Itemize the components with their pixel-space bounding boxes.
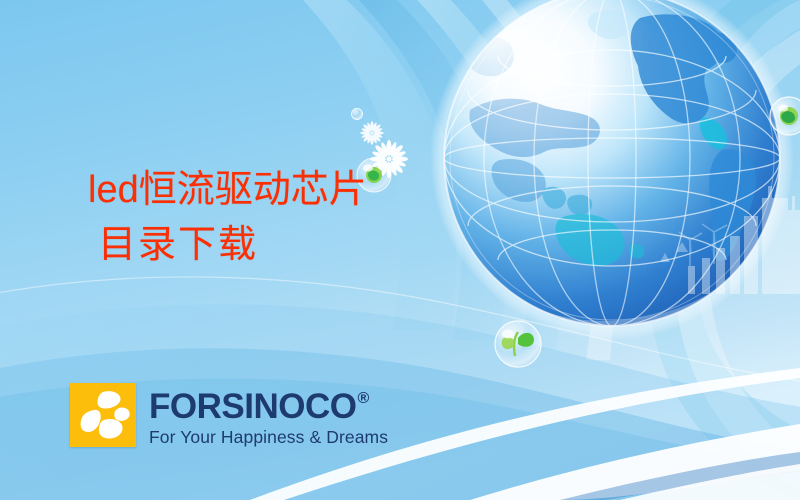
registered-trademark-icon: ® — [357, 391, 368, 407]
headline-text: led恒流驱动芯片 目录下载 — [88, 163, 367, 273]
bubble-small-plain — [352, 109, 363, 120]
logo-wordmark-text: FORSINOCO — [149, 389, 356, 424]
bubble-green-sprout — [495, 321, 541, 367]
logo-tagline: For Your Happiness & Dreams — [149, 429, 388, 447]
promo-banner: led恒流驱动芯片 目录下载 FORSINOCO — [0, 0, 800, 500]
headline-line-2: 目录下载 — [88, 218, 367, 273]
brand-logo: FORSINOCO ® For Your Happiness & Dreams — [70, 383, 388, 447]
logo-text-block: FORSINOCO ® For Your Happiness & Dreams — [149, 389, 388, 447]
forsinoco-pinwheel-icon — [70, 383, 136, 447]
headline-line-1: led恒流驱动芯片 — [88, 169, 367, 211]
daisy-flower-small — [360, 121, 384, 145]
logo-wordmark: FORSINOCO ® — [149, 389, 388, 424]
